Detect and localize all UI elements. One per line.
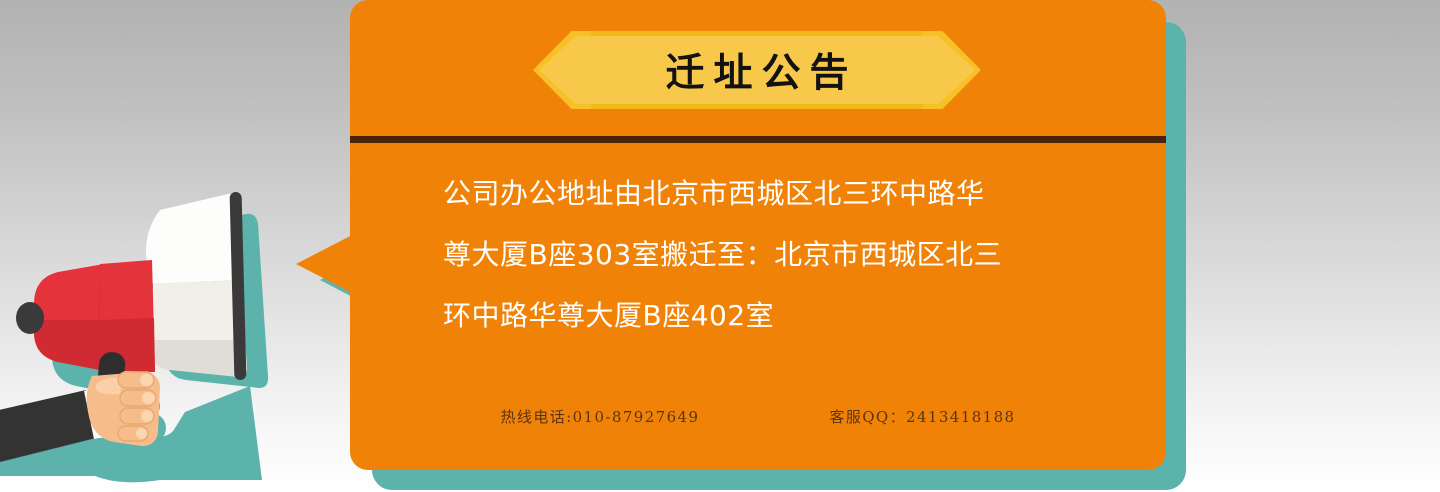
contact-footer: 热线电话:010-87927649 客服QQ：2413418188 <box>350 406 1166 427</box>
title-ribbon: 迁址公告 <box>533 31 981 109</box>
title-divider <box>350 136 1166 143</box>
announcement-banner: 迁址公告 公司办公地址由北京市西城区北三环中路华 尊大厦B座303室搬迁至：北京… <box>0 0 1440 492</box>
announcement-body: 公司办公地址由北京市西城区北三环中路华 尊大厦B座303室搬迁至：北京市西城区北… <box>443 163 1093 346</box>
body-line: 环中路华尊大厦B座402室 <box>443 285 1093 346</box>
megaphone-illustration <box>0 180 350 492</box>
hotline-phone: 热线电话:010-87927649 <box>501 406 700 427</box>
page-title: 迁址公告 <box>533 31 981 109</box>
body-line: 公司办公地址由北京市西城区北三环中路华 <box>443 163 1093 224</box>
body-line: 尊大厦B座303室搬迁至：北京市西城区北三 <box>443 224 1093 285</box>
customer-service-qq: 客服QQ：2413418188 <box>829 406 1015 427</box>
speech-tail <box>296 232 358 296</box>
megaphone-icon <box>0 180 350 492</box>
